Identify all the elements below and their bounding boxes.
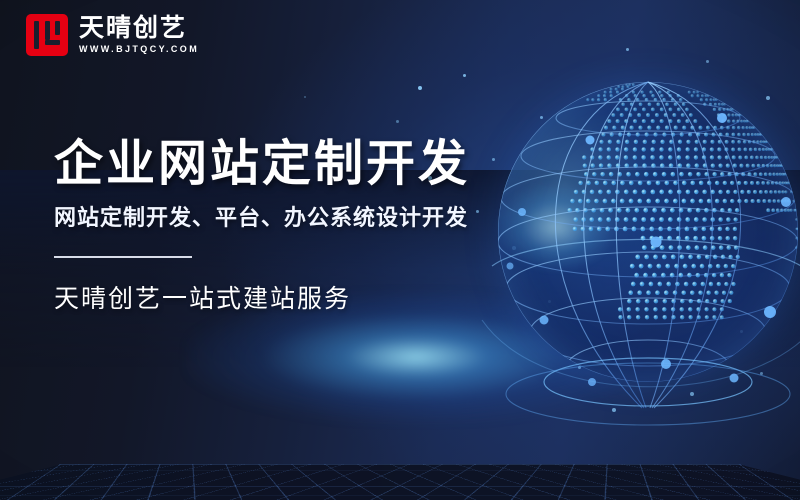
hero-divider bbox=[54, 256, 192, 258]
brand-logo[interactable]: 天晴创艺 WWW.BJTQCY.COM bbox=[26, 14, 199, 56]
hero-tagline: 天晴创艺一站式建站服务 bbox=[54, 282, 534, 316]
logo-text-block: 天晴创艺 WWW.BJTQCY.COM bbox=[79, 15, 199, 56]
hero-copy: 企业网站定制开发 网站定制开发、平台、办公系统设计开发 天晴创艺一站式建站服务 bbox=[54, 132, 534, 316]
logo-company-name: 天晴创艺 bbox=[79, 15, 199, 41]
hero-subheadline: 网站定制开发、平台、办公系统设计开发 bbox=[54, 204, 534, 234]
hero-headline: 企业网站定制开发 bbox=[54, 132, 534, 194]
logo-mark-icon bbox=[26, 14, 68, 56]
globe-rim-glow bbox=[498, 82, 798, 382]
promo-banner: 天晴创艺 WWW.BJTQCY.COM 企业网站定制开发 网站定制开发、平台、办… bbox=[0, 0, 800, 500]
logo-website-url: WWW.BJTQCY.COM bbox=[79, 43, 199, 56]
